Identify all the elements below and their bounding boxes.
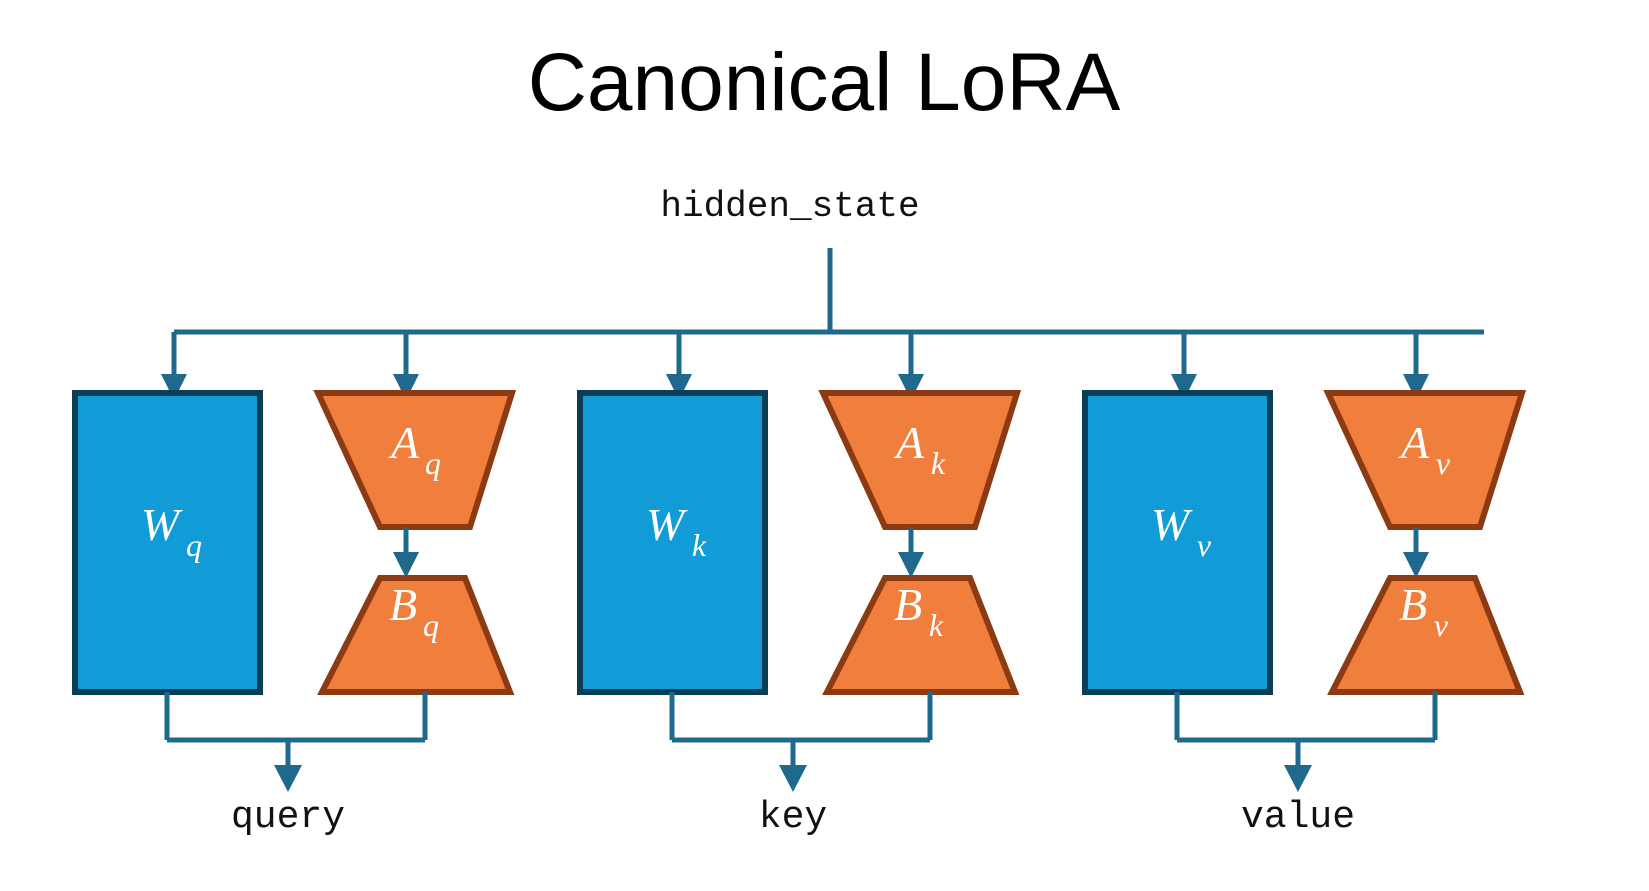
adapter-label-bv-main: B: [1399, 579, 1427, 630]
base-weight-label-wq-sub: q: [186, 527, 202, 563]
adapter-label-av-main: A: [1398, 417, 1430, 468]
adapter-label-bk-main: B: [894, 579, 922, 630]
group-key: W k A k B k key: [580, 393, 1017, 839]
diagram-canvas: Canonical LoRA hidden_state W q: [0, 0, 1649, 891]
base-weight-label-wk-main: W: [646, 499, 688, 550]
adapter-label-bv-sub: v: [1434, 607, 1449, 643]
adapter-internal-arrowhead-k: [898, 552, 924, 578]
adapter-label-bk-sub: k: [929, 607, 944, 643]
group-value: W v A v B v value: [1085, 393, 1522, 839]
adapter-internal-arrowhead-v: [1403, 552, 1429, 578]
base-weight-label-wk-sub: k: [692, 527, 707, 563]
group-query: W q A q B q query: [75, 393, 512, 839]
adapter-label-ak-sub: k: [931, 445, 946, 481]
page-title: Canonical LoRA: [528, 37, 1121, 128]
output-label-key: key: [759, 796, 827, 839]
adapter-label-aq-sub: q: [425, 445, 441, 481]
output-arrowhead-key: [779, 765, 807, 792]
adapter-label-aq-main: A: [388, 417, 420, 468]
adapter-label-ak-main: A: [893, 417, 925, 468]
adapter-label-av-sub: v: [1436, 445, 1451, 481]
output-label-value: value: [1241, 796, 1355, 839]
output-arrowhead-query: [274, 765, 302, 792]
lora-architecture-diagram: Canonical LoRA hidden_state W q: [0, 0, 1649, 891]
base-weight-label-wv-sub: v: [1197, 527, 1212, 563]
base-weight-label-wv-main: W: [1151, 499, 1193, 550]
adapter-label-bq-main: B: [389, 579, 417, 630]
output-arrowhead-value: [1284, 765, 1312, 792]
adapter-internal-arrowhead-q: [393, 552, 419, 578]
input-label-hidden-state: hidden_state: [660, 186, 919, 227]
base-weight-label-wq-main: W: [141, 499, 183, 550]
output-label-query: query: [231, 796, 345, 839]
adapter-label-bq-sub: q: [423, 607, 439, 643]
